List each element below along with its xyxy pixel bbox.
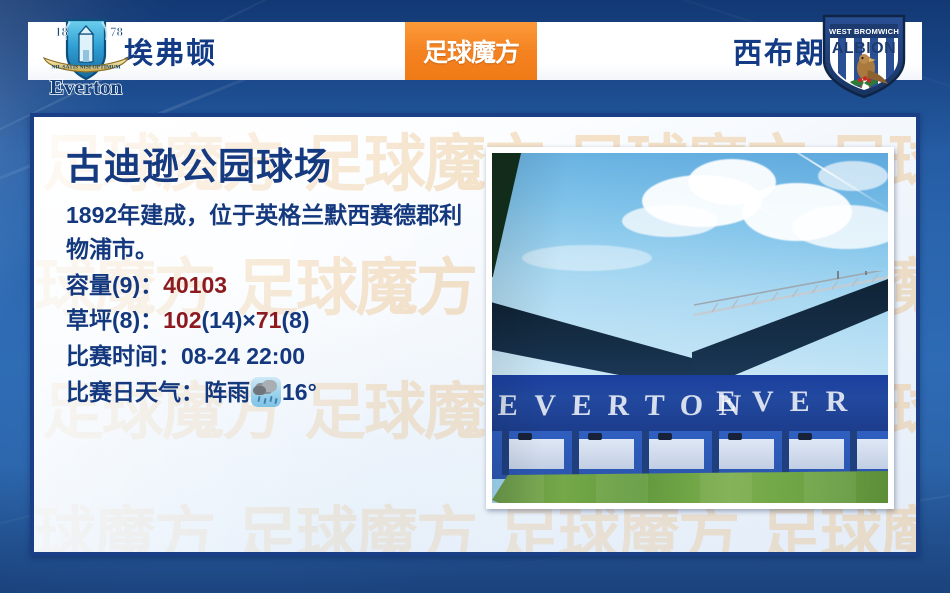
- goodison-park-photo: EVERTON EVER: [492, 153, 888, 503]
- pitch-times-symbol: ×: [242, 307, 255, 333]
- stadium-info-block: 古迪逊公园球场 1892年建成，位于英格兰默西赛德郡利物浦市。 容量(9)：40…: [66, 147, 486, 410]
- pitch-size-stat-line: 草坪(8)：102(14)×71(8): [66, 303, 486, 339]
- stadium-description: 1892年建成，位于英格兰默西赛德郡利物浦市。: [66, 198, 466, 266]
- photo-upper-tier: EVERTON EVER: [492, 375, 888, 433]
- svg-text:WEST BROMWICH: WEST BROMWICH: [829, 27, 899, 36]
- capacity-label: 容量(9)：: [66, 272, 163, 298]
- pitch-width-rating: (8): [281, 307, 309, 333]
- stadium-photo-frame[interactable]: EVERTON EVER: [486, 147, 894, 509]
- photo-pitch: [492, 471, 888, 503]
- photo-cloud: [522, 245, 652, 271]
- west-bromwich-albion-crest-icon: WEST BROMWICH ALBION: [816, 8, 912, 100]
- pitch-label: 草坪(8)：: [66, 307, 163, 333]
- watermark: 足球魔方: [30, 485, 214, 556]
- photo-cloud: [622, 205, 718, 237]
- site-logo-text: 足球魔方: [423, 33, 519, 69]
- svg-text:78: 78: [110, 24, 124, 39]
- match-time-value: 08-24 22:00: [181, 343, 305, 369]
- site-logo-badge[interactable]: 足球魔方: [405, 22, 537, 80]
- rain-shower-icon: [251, 377, 281, 407]
- pitch-length-value: 102: [163, 307, 201, 333]
- pitch-length-rating: (14): [202, 307, 243, 333]
- photo-stand-lettering-right: EVER: [716, 385, 863, 419]
- capacity-value: 40103: [163, 272, 227, 298]
- svg-text:Everton: Everton: [50, 75, 123, 99]
- weather-temperature: 16°: [282, 379, 317, 405]
- matchday-weather-stat-line: 比赛日天气：阵雨 16°: [66, 375, 486, 411]
- away-team-name: 西布朗: [733, 30, 826, 72]
- stadium-title: 古迪逊公园球场: [66, 147, 486, 188]
- svg-text:18: 18: [55, 24, 69, 39]
- match-time-label: 比赛时间：: [66, 343, 181, 369]
- weather-condition: 阵雨: [204, 379, 250, 405]
- svg-text:NIL SATIS NISI OPTIMUM: NIL SATIS NISI OPTIMUM: [51, 65, 121, 71]
- stadium-info-panel: 足球魔方 足球魔方 足球魔方 足球魔方 足球魔方 足球魔方 足球魔方 足球魔方 …: [30, 113, 920, 556]
- capacity-stat-line: 容量(9)：40103: [66, 268, 486, 304]
- pitch-width-value: 71: [256, 307, 282, 333]
- weather-label: 比赛日天气：: [66, 379, 204, 405]
- photo-roof-truss: [688, 271, 888, 319]
- everton-crest-icon: 18 78 NIL SATIS NISI OPTIMUM Everton Eve…: [34, 6, 138, 106]
- match-time-stat-line: 比赛时间：08-24 22:00: [66, 339, 486, 375]
- stadium-info-card: 埃弗顿 西布朗 足球魔方: [0, 0, 950, 593]
- watermark: 足球魔方: [236, 485, 476, 556]
